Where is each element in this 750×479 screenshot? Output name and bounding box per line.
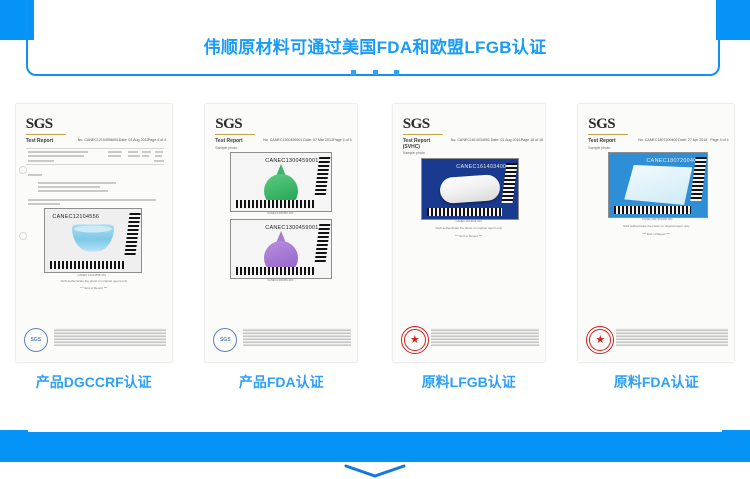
footer-text-block <box>54 328 166 346</box>
sgs-logo: SGS <box>403 116 430 133</box>
ruler-icon <box>614 206 691 214</box>
photo-caption: CANEC1614034-001 <box>421 219 517 223</box>
star-icon: ★ <box>595 335 605 346</box>
certificate-footer: ★ <box>399 326 539 352</box>
ruler-icon <box>236 267 315 275</box>
ruler-icon <box>124 213 140 256</box>
auth-note: SGS authenticate the photo on original r… <box>578 224 734 228</box>
caption-fda-product: 产品FDA认证 <box>188 372 376 404</box>
chevron-down-icon[interactable] <box>340 464 410 478</box>
sgs-seal-icon: SGS <box>24 328 48 352</box>
sample-code-label: CANEC1300459001 <box>265 158 318 164</box>
certificate-footer: SGS <box>22 326 166 352</box>
photo-caption: CANEC 12104556-001 <box>44 273 140 277</box>
report-no: No. CANEC12104556001 <box>78 138 119 142</box>
sample-photo: CANEC12104556 <box>44 208 142 273</box>
report-subtitle: Sample photo <box>588 146 610 150</box>
report-page: Page 4 of 4 <box>148 138 166 142</box>
caption-dgccrf: 产品DGCCRF认证 <box>0 372 188 404</box>
sample-photo: CANEC1807200400 <box>608 152 708 218</box>
auth-note: SGS authenticate the photo on original r… <box>16 279 172 283</box>
punch-hole-icon <box>19 166 27 174</box>
sample-photo: CANEC1300459001 <box>230 152 332 212</box>
ruler-icon <box>50 261 125 269</box>
footer-text-block <box>243 328 351 346</box>
sgs-logo: SGS <box>26 116 53 133</box>
report-subtitle-2: Sample photo <box>403 151 425 155</box>
certificate-image-fda-product[interactable]: SGS Test Report No. CANEC1300459001 Date… <box>205 104 357 362</box>
certificate-image-fda-material[interactable]: SGS Test Report Sample photo No. CANEC18… <box>578 104 734 362</box>
footer-text-block <box>616 328 728 346</box>
photo-caption: CANEC1300459-001 <box>230 278 330 282</box>
report-page: Page 16 of 16 <box>521 138 543 142</box>
dot-icon <box>373 70 378 75</box>
banner-subtitle: 伟顺原材料可通过美国FDA和欧盟LFGB认证 <box>0 33 750 58</box>
report-no: No. CANEC1614034001 <box>451 138 490 142</box>
sample-object-bowl <box>72 224 114 251</box>
report-no: No. CANEC1300459001 <box>263 138 302 142</box>
ruler-icon <box>236 200 315 208</box>
certificate-cell: SGS Test Report No. CANEC12104556001 Dat… <box>0 104 188 366</box>
dot-icon <box>351 70 356 75</box>
sample-photo: CANEC1300459001 <box>230 219 332 279</box>
cnas-seal-icon: ★ <box>586 326 614 354</box>
certificate-gallery: SGS Test Report No. CANEC12104556001 Dat… <box>0 104 750 366</box>
banner-dots <box>0 62 750 80</box>
certificate-captions: 产品DGCCRF认证 产品FDA认证 原料LFGB认证 原料FDA认证 <box>0 372 750 404</box>
ruler-icon <box>427 208 502 216</box>
report-date: Date: 07 Mar 2013 <box>303 138 333 142</box>
certificate-cell: SGS Test Report (SVHC) Sample photo No. … <box>375 104 563 366</box>
footer-text-block <box>431 328 539 346</box>
report-page: Page 4 of 4 <box>710 138 728 142</box>
report-page: Page 4 of 5 <box>333 138 351 142</box>
photo-caption: CANEC1300459-001 <box>230 211 330 215</box>
cnas-seal-icon: ★ <box>401 326 429 354</box>
report-date: Date: 01 Aug 2016 <box>491 138 521 142</box>
dot-icon <box>394 70 399 75</box>
photo-caption: CANEC1807200400-001 <box>608 217 706 221</box>
end-note: *** End of Report *** <box>16 286 172 290</box>
report-subtitle: Sample photo <box>215 146 237 150</box>
report-title: Test Report <box>588 138 615 144</box>
certificate-footer: SGS <box>211 326 351 352</box>
sample-object-pill <box>439 174 501 204</box>
footer-blue-strip <box>0 430 750 462</box>
sample-object-sheet <box>624 165 692 205</box>
sgs-seal-icon: SGS <box>213 328 237 352</box>
sample-code-label: CANEC1614034001 <box>456 164 509 170</box>
certificate-image-dgccrf[interactable]: SGS Test Report No. CANEC12104556001 Dat… <box>16 104 172 362</box>
sample-code-label: CANEC12104556 <box>52 214 99 220</box>
end-note: *** End of Report *** <box>578 232 734 236</box>
report-subtitle: (SVHC) <box>403 144 420 150</box>
sgs-logo: SGS <box>215 116 242 133</box>
caption-lfgb-material: 原料LFGB认证 <box>375 372 563 404</box>
punch-hole-icon <box>19 232 27 240</box>
report-date: Date: 03 Aug 2012 <box>119 138 149 142</box>
certification-section: 权威资质 伟顺原材料可通过美国FDA和欧盟LFGB认证 SGS Test Rep… <box>0 0 750 479</box>
certificate-cell: SGS Test Report Sample photo No. CANEC18… <box>563 104 750 366</box>
sample-code-label: CANEC1807200400 <box>646 158 699 164</box>
sample-photo: CANEC1614034001 <box>421 158 519 220</box>
footer-white-notch <box>28 424 722 432</box>
caption-fda-material: 原料FDA认证 <box>563 372 750 404</box>
certificate-image-lfgb-material[interactable]: SGS Test Report (SVHC) Sample photo No. … <box>393 104 545 362</box>
sgs-logo: SGS <box>588 116 615 133</box>
report-no: No. CANEC1807200400 <box>638 138 677 142</box>
star-icon: ★ <box>410 335 420 346</box>
banner-header: 权威资质 伟顺原材料可通过美国FDA和欧盟LFGB认证 <box>0 0 750 90</box>
auth-note: SGS authenticate the photo on original r… <box>393 226 545 230</box>
end-note: *** End of Report *** <box>393 234 545 238</box>
sample-code-label: CANEC1300459001 <box>265 225 318 231</box>
certificate-footer: ★ <box>584 326 728 352</box>
report-title: Test Report <box>26 138 53 144</box>
report-title: Test Report <box>215 138 242 144</box>
report-date: Date: 27 Apr 2018 <box>678 138 707 142</box>
certificate-cell: SGS Test Report No. CANEC1300459001 Date… <box>188 104 376 366</box>
